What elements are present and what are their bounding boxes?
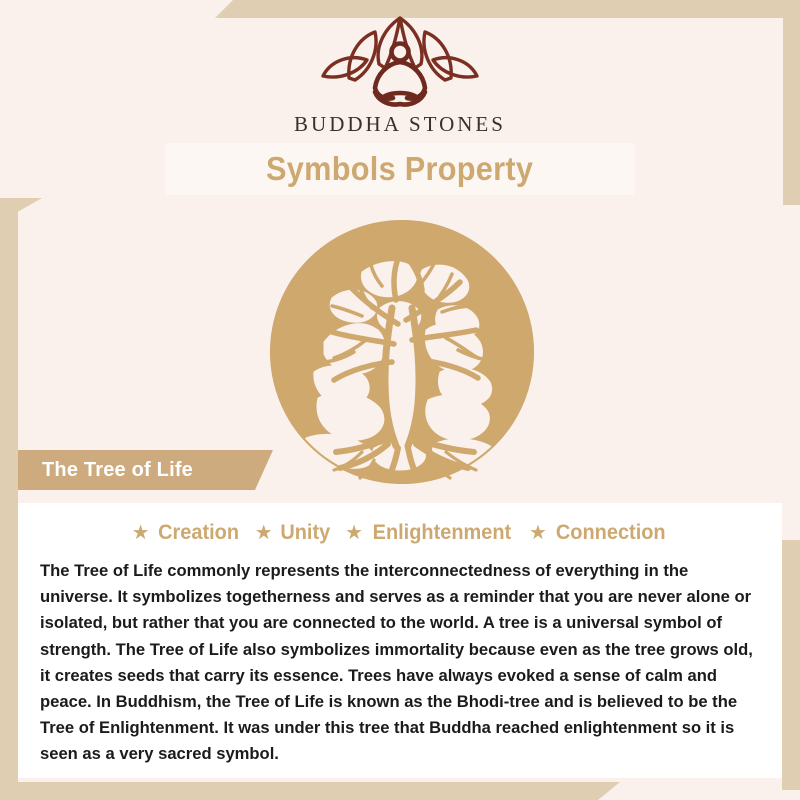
section-label-text: The Tree of Life [42,459,193,482]
keyword-list: ★ Creation ★ Unity ★ Enlightenment ★ Con… [18,503,782,550]
keyword-label: Connection [556,521,666,545]
star-icon: ★ [345,523,363,543]
decorative-notch-left [0,198,42,222]
keyword-item-connection: ★ Connection [529,521,668,545]
keyword-item-unity: ★ Unity [255,521,331,545]
tree-of-life-icon [262,212,542,492]
star-icon: ★ [255,523,273,543]
brand-header: BUDDHA STONES [0,14,800,137]
decorative-band-right-lower [782,540,800,790]
keyword-item-creation: ★ Creation [132,521,241,545]
keyword-label: Creation [158,521,239,545]
description-paragraph: The Tree of Life commonly represents the… [18,550,782,768]
lotus-meditation-figure-icon [305,14,495,110]
keyword-label: Unity [280,521,330,545]
brand-name: BUDDHA STONES [0,112,800,137]
decorative-band-left-lower [0,500,18,790]
star-icon: ★ [529,523,547,543]
title-banner: Symbols Property [165,143,635,195]
keyword-label: Enlightenment [373,521,512,545]
keyword-item-enlightenment: ★ Enlightenment [345,521,515,545]
star-icon: ★ [132,523,150,543]
section-label-banner: The Tree of Life [18,450,273,490]
content-card: ★ Creation ★ Unity ★ Enlightenment ★ Con… [18,503,782,778]
poster-root: BUDDHA STONES Symbols Property [0,0,800,800]
decorative-band-left-upper [0,198,18,528]
page-title: Symbols Property [266,150,533,188]
tree-of-life-emblem [262,212,542,492]
decorative-band-bottom [0,782,620,800]
